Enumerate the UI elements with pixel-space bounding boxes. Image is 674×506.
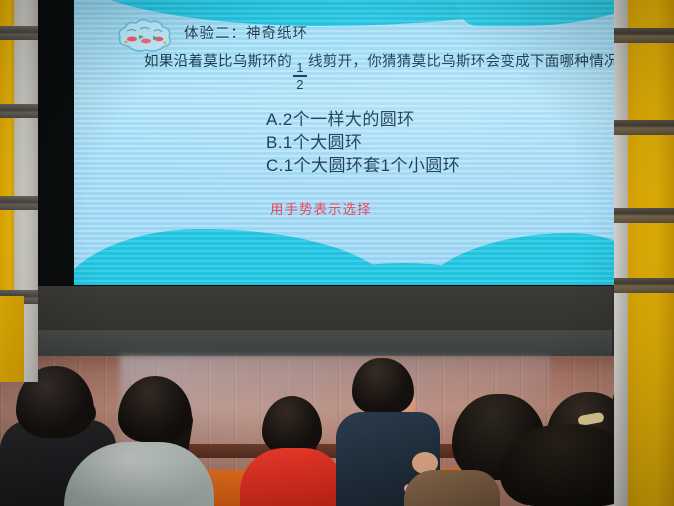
slide-hint-text: 用手势表示选择 — [270, 198, 372, 218]
projection-screen-frame: 体验二：神奇纸环 如果沿着莫比乌斯环的12线剪开，你猜猜莫比乌斯环会变成下面哪种… — [36, 0, 612, 288]
left-pillar-band-3 — [0, 196, 38, 210]
right-pillar-band-2 — [614, 120, 674, 135]
fraction-numerator: 1 — [296, 61, 304, 75]
fraction-one-half: 12 — [293, 61, 307, 91]
stage-backdrop-ledge — [36, 330, 612, 358]
option-b: B.1个大圆环 — [266, 131, 460, 154]
cloud-decoration-icon — [116, 18, 174, 54]
question-part-1: 如果沿着莫比乌斯环的 — [144, 54, 292, 70]
right-pillar-edge — [614, 0, 628, 506]
left-pillar — [0, 0, 38, 382]
option-c: C.1个大圆环套1个小圆环 — [266, 154, 460, 177]
slide-question: 如果沿着莫比乌斯环的12线剪开，你猜猜莫比乌斯环会变成下面哪种情况？ — [144, 52, 644, 91]
left-pillar-band-1 — [0, 26, 38, 40]
question-part-2: 线剪开，你猜猜莫比乌斯环会变成下面哪种情况？ — [308, 54, 634, 70]
slide-title: 体验二：神奇纸环 — [184, 22, 308, 43]
option-a: A.2个一样大的圆环 — [266, 108, 460, 131]
student-brown-sweater-body — [404, 470, 500, 506]
left-pillar-base — [0, 296, 24, 382]
student-red-jacket-body — [240, 448, 344, 506]
right-pillar-band-3 — [614, 208, 674, 223]
right-pillar — [614, 0, 674, 506]
slide-options: A.2个一样大的圆环 B.1个大圆环 C.1个大圆环套1个小圆环 — [266, 108, 460, 177]
right-pillar-band-4 — [614, 278, 674, 293]
screenshot-root: 体验二：神奇纸环 如果沿着莫比乌斯环的12线剪开，你猜猜莫比乌斯环会变成下面哪种… — [0, 0, 674, 506]
projection-screen: 体验二：神奇纸环 如果沿着莫比乌斯环的12线剪开，你猜猜莫比乌斯环会变成下面哪种… — [74, 0, 644, 285]
right-pillar-band-1 — [614, 28, 674, 43]
left-pillar-band-2 — [0, 104, 38, 118]
wall-below-screen — [36, 286, 612, 332]
fraction-denominator: 2 — [296, 77, 304, 91]
